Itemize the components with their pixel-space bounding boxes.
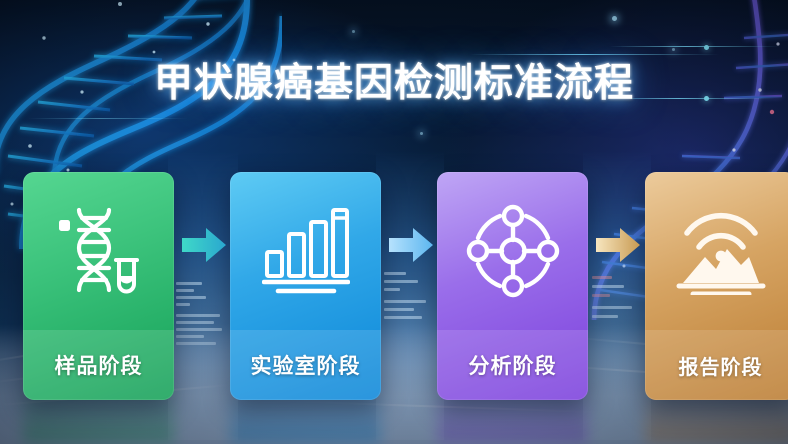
flow-step-label: 分析阶段: [469, 350, 557, 380]
flow-step-label-band: 样品阶段: [23, 330, 174, 400]
network-nodes-icon: [466, 204, 560, 298]
flow-step-sample[interactable]: 样品阶段: [23, 172, 174, 400]
page-title-text: 甲状腺癌基因检测标准流程: [154, 52, 634, 108]
particle-dot: [352, 30, 355, 33]
flow-step-label-band: 分析阶段: [437, 330, 588, 400]
flow-connector-1: [182, 226, 226, 264]
infographic-canvas: 甲状腺癌基因检测标准流程: [0, 0, 788, 444]
particle-dot: [672, 48, 675, 51]
flow-step-label: 报告阶段: [679, 351, 763, 380]
arrow-right-icon: [389, 226, 433, 264]
flow-step-icon-area: [23, 172, 174, 330]
flow-step-label-band: 实验室阶段: [230, 330, 381, 400]
flow-step-analysis[interactable]: 分析阶段: [437, 172, 588, 400]
bar-chart-icon: [262, 208, 350, 294]
particle-dot: [612, 16, 617, 21]
hud-line: [28, 118, 188, 119]
dna-testtube-icon: [57, 206, 141, 296]
particle-dot: [420, 132, 423, 135]
flow-connector-2: [389, 226, 433, 264]
flow-step-label-band: 报告阶段: [645, 330, 788, 400]
arrow-right-icon: [596, 226, 640, 264]
flow-connector-3: [596, 226, 640, 264]
flow-step-icon-area: [437, 172, 588, 330]
page-title: 甲状腺癌基因检测标准流程: [0, 52, 788, 108]
flow-step-icon-area: [645, 172, 788, 330]
flow-step-report[interactable]: 报告阶段: [645, 172, 788, 400]
flow-step-icon-area: [230, 172, 381, 330]
signal-mountain-icon: [675, 207, 767, 295]
flow-step-laboratory[interactable]: 实验室阶段: [230, 172, 381, 400]
hud-line: [610, 46, 780, 47]
hud-dot: [704, 45, 709, 50]
flow-step-label: 实验室阶段: [251, 350, 361, 380]
flow-step-label: 样品阶段: [55, 350, 143, 380]
arrow-right-icon: [182, 226, 226, 264]
